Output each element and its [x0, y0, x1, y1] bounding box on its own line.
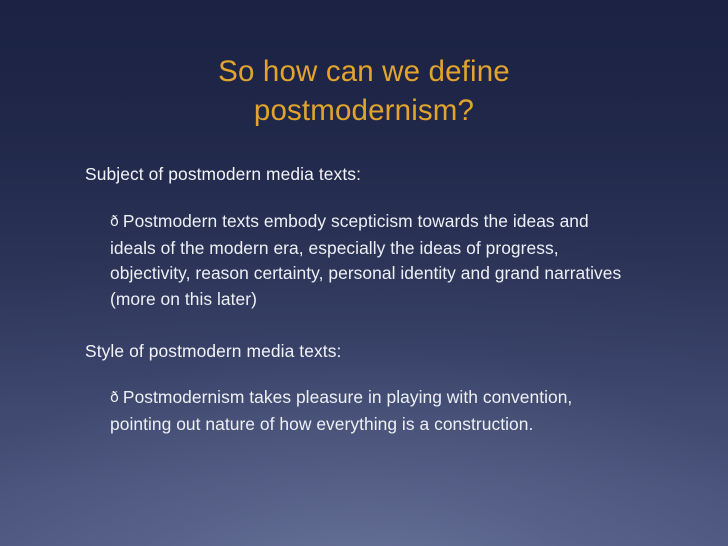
section-heading-style: Style of postmodern media texts:	[85, 339, 637, 364]
slide-title: So how can we define postmodernism?	[0, 52, 728, 130]
spacer	[85, 312, 637, 339]
bullet-item-style-text: Postmodernism takes pleasure in playing …	[110, 387, 572, 434]
section-heading-subject: Subject of postmodern media texts:	[85, 162, 637, 187]
bullet-item-subject: ðPostmodern texts embody scepticism towa…	[110, 209, 638, 312]
bullet-item-style: ðPostmodernism takes pleasure in playing…	[110, 385, 638, 437]
bullet-item-subject-text: Postmodern texts embody scepticism towar…	[110, 211, 621, 309]
eth-bullet-icon: ð	[110, 214, 123, 230]
slide-title-line-2: postmodernism?	[40, 91, 688, 130]
presentation-slide: So how can we define postmodernism? Subj…	[0, 0, 728, 546]
spacer	[85, 364, 637, 385]
slide-title-line-1: So how can we define	[40, 52, 688, 91]
spacer	[85, 187, 637, 209]
eth-bullet-icon: ð	[110, 390, 123, 406]
slide-body: Subject of postmodern media texts: ðPost…	[85, 162, 637, 437]
